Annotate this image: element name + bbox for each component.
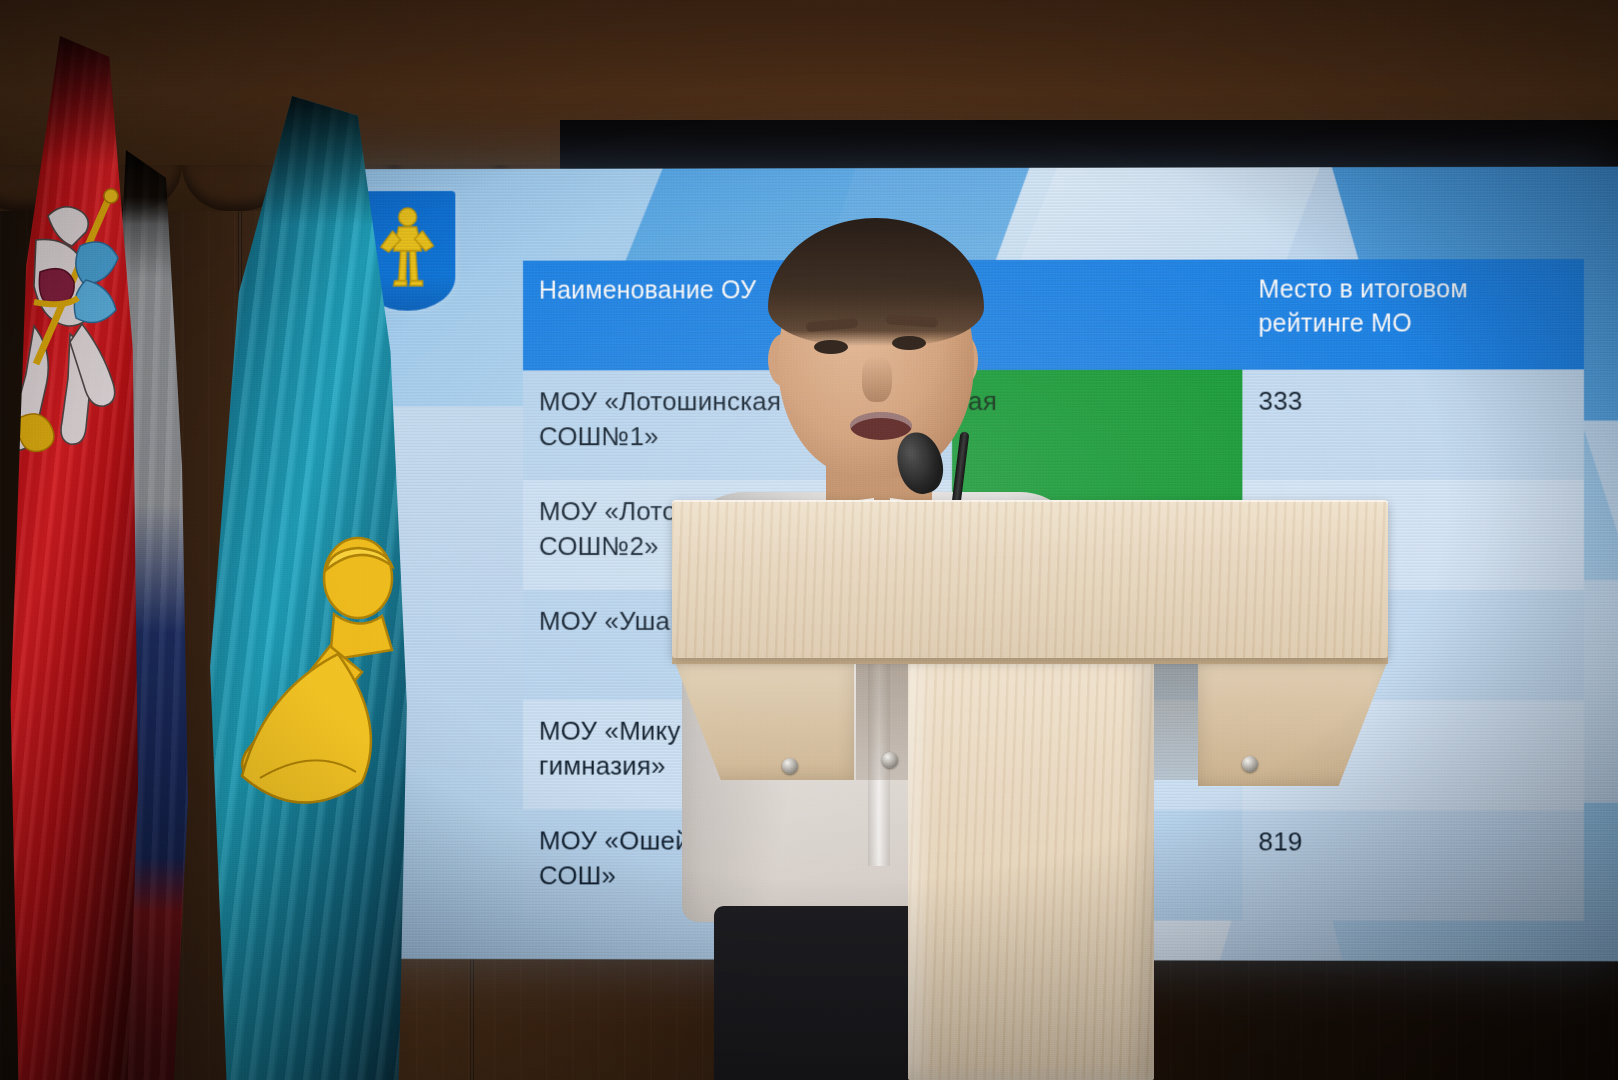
cell-rank: 333 — [1242, 369, 1584, 479]
podium-left-panel — [674, 660, 854, 780]
podium-desktop — [672, 500, 1388, 658]
column-header-rank: Место в итоговом рейтинге МО — [1242, 259, 1584, 370]
golden-warrior-icon — [230, 526, 410, 866]
podium-right-panel — [1198, 660, 1388, 786]
speaker-nose — [862, 356, 892, 402]
speaker-eye — [892, 336, 926, 350]
speaker-hair — [768, 218, 984, 346]
speaker-mouth — [850, 412, 912, 440]
screw-icon — [882, 752, 898, 768]
speaker-eye — [814, 340, 848, 354]
screw-icon — [782, 758, 798, 774]
podium — [660, 500, 1400, 1080]
screw-icon — [1242, 756, 1258, 772]
podium-column — [908, 658, 1154, 1080]
photo-scene: Наименование ОУ Место в итоговом рейтинг… — [0, 0, 1618, 1080]
